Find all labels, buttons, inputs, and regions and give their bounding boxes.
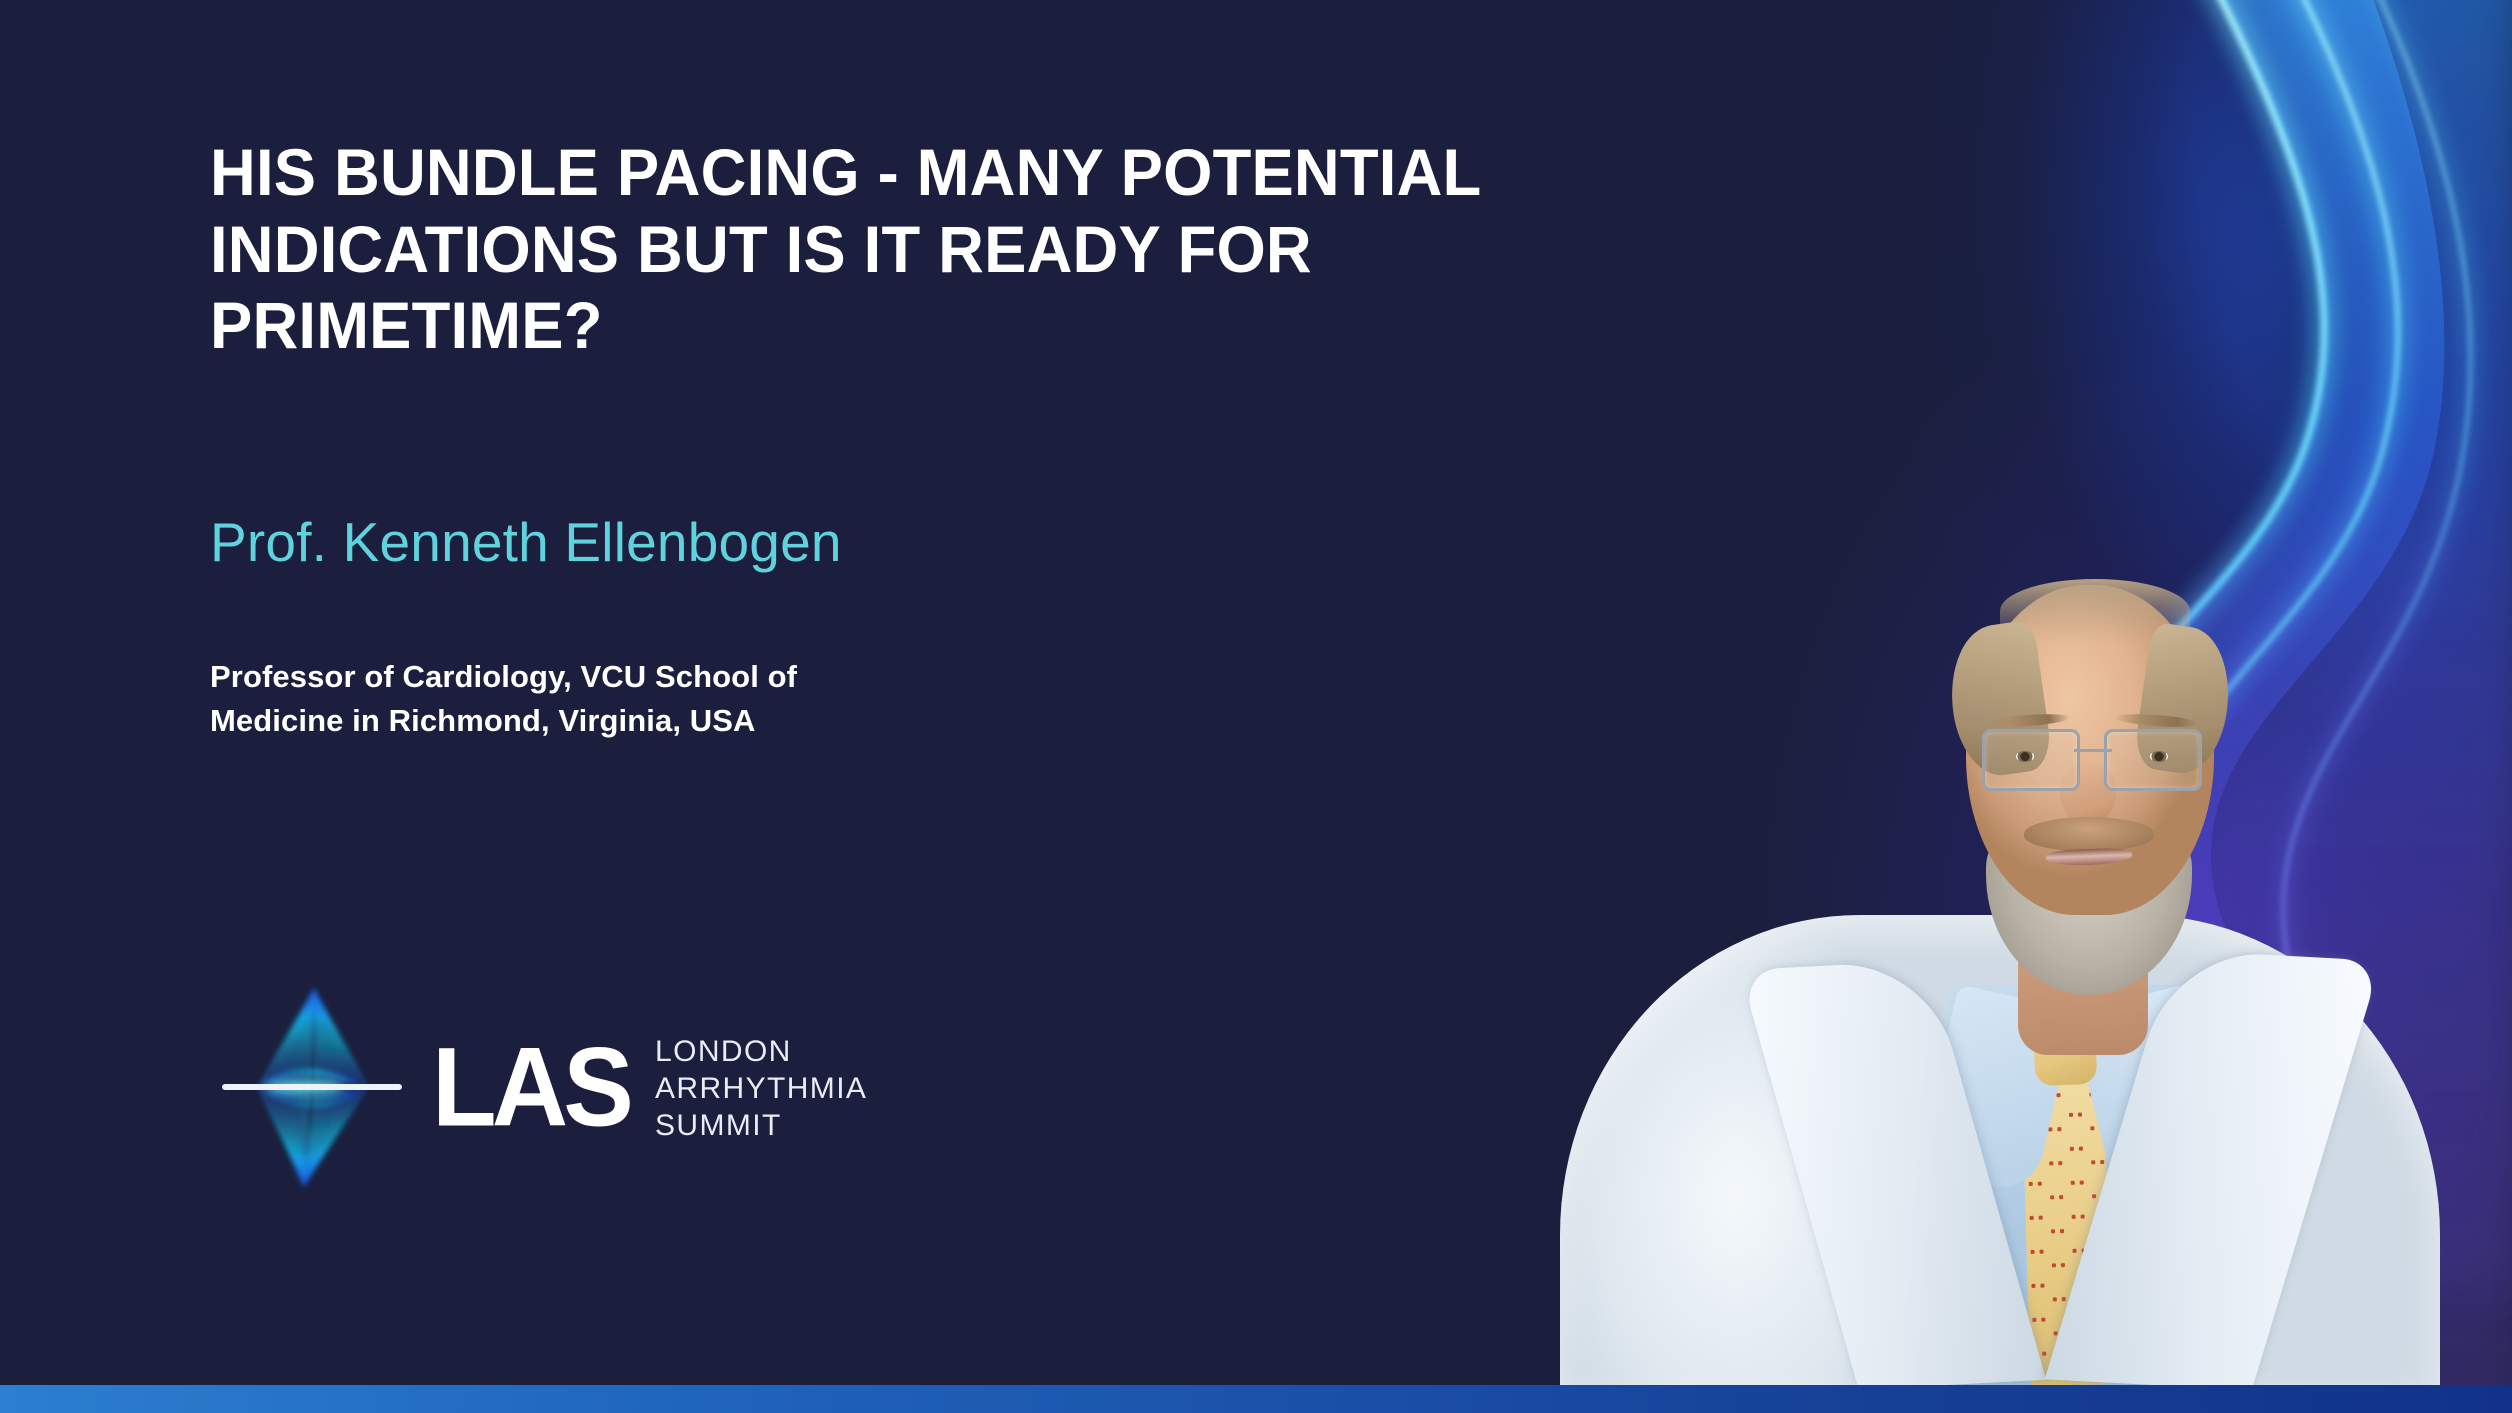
mustache [2024,817,2154,851]
speaker-affiliation: Professor of Cardiology, VCU School of M… [210,655,1050,743]
las-logo: LAS LONDON ARRHYTHMIA SUMMIT [218,980,1008,1195]
las-full-name: LONDON ARRHYTHMIA SUMMIT [655,1033,867,1145]
las-word-summit: SUMMIT [655,1107,867,1144]
las-wordmark: LAS LONDON ARRHYTHMIA SUMMIT [432,1031,867,1145]
title-slide: HIS BUNDLE PACING - MANY POTENTIAL INDIC… [0,0,2512,1413]
las-spindle-waveform-icon [218,980,410,1195]
eyeglasses-icon [1980,729,2204,789]
las-word-london: LONDON [655,1033,867,1070]
las-acronym: LAS [432,1039,629,1136]
bottom-accent-bar [0,1385,2512,1413]
speaker-name: Prof. Kenneth Ellenbogen [210,512,842,573]
affiliation-line-2: Medicine in Richmond, Virginia, USA [210,703,756,738]
eye-left [2016,751,2034,762]
glasses-bridge [2074,749,2112,752]
las-word-arrhythmia: ARRHYTHMIA [655,1070,867,1107]
affiliation-line-1: Professor of Cardiology, VCU School of [210,659,797,694]
page-title: HIS BUNDLE PACING - MANY POTENTIAL INDIC… [210,134,1612,364]
eye-right [2150,751,2168,762]
slide-text-block: HIS BUNDLE PACING - MANY POTENTIAL INDIC… [210,0,1690,1413]
